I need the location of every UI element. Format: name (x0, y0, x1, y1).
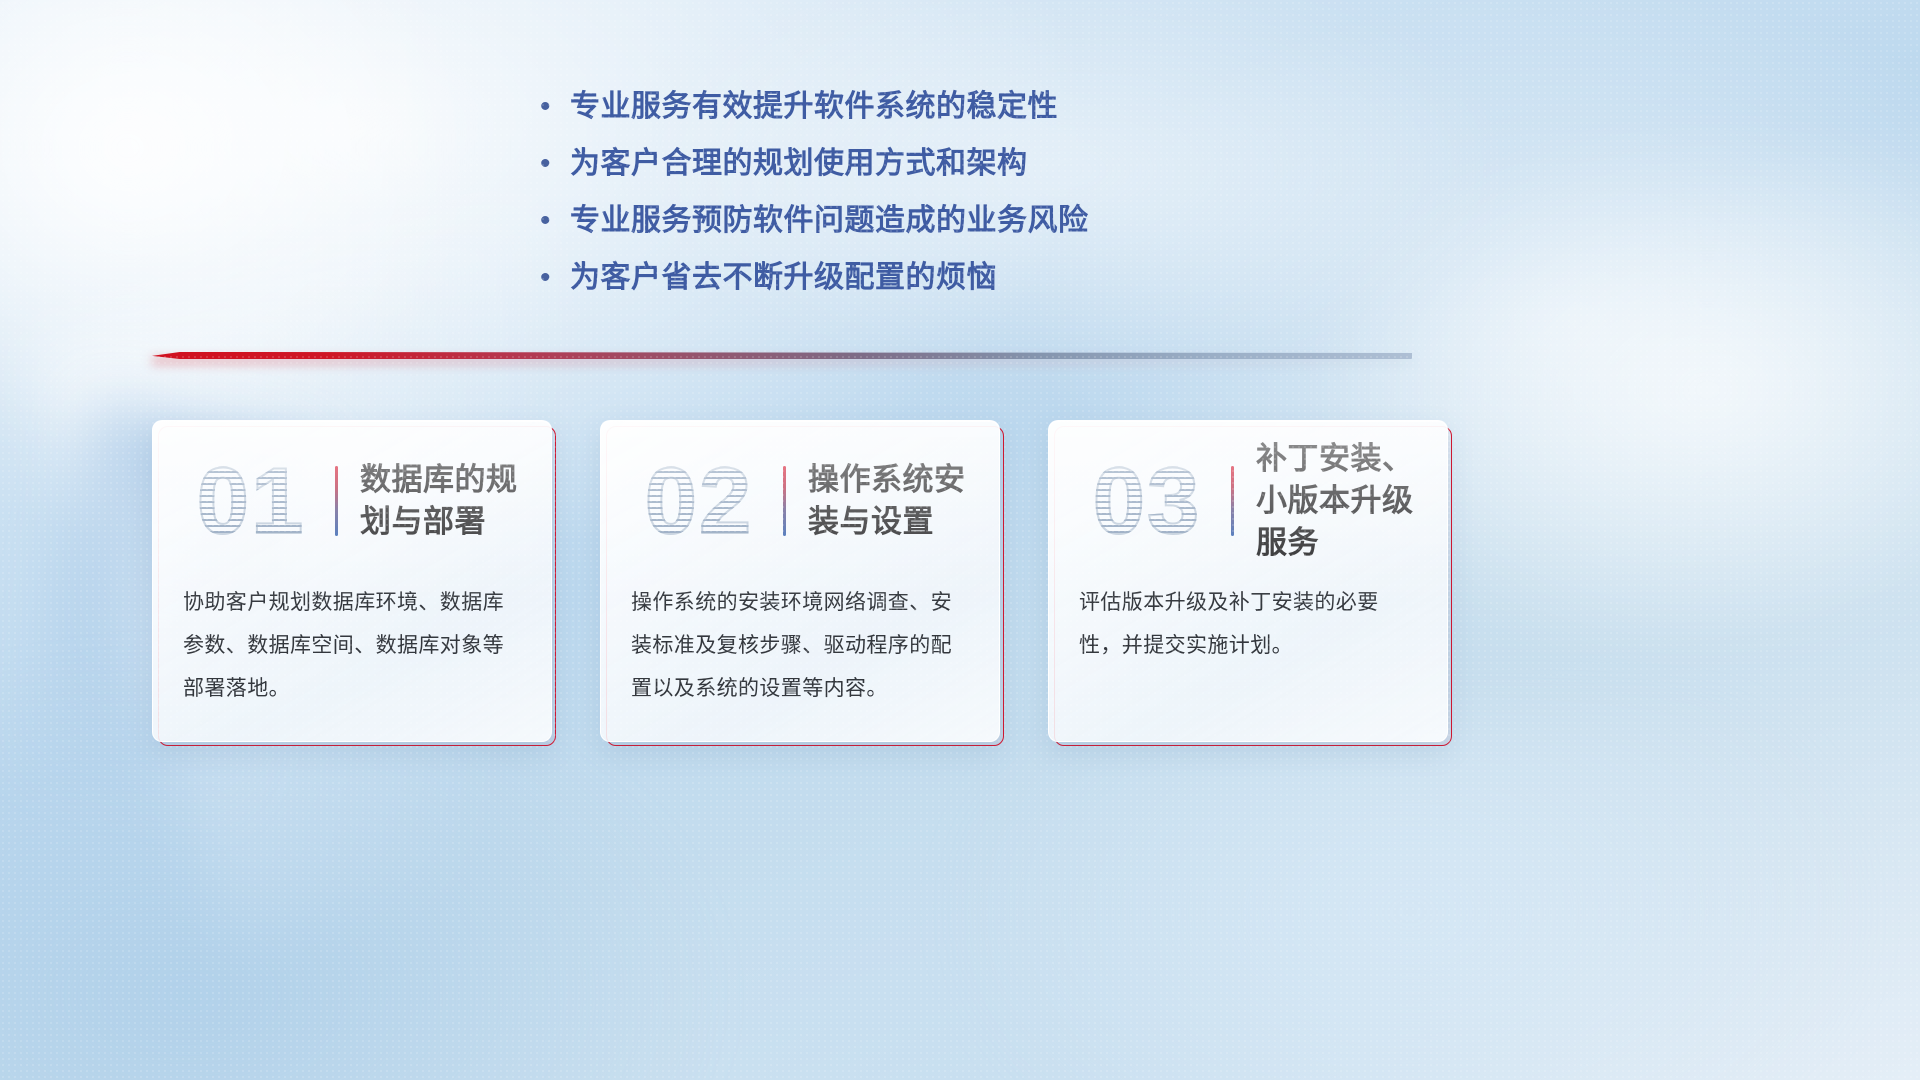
bullet-dot-icon: • (540, 202, 570, 240)
list-item: • 专业服务有效提升软件系统的稳定性 (540, 88, 1089, 126)
service-card[interactable]: 02 操作系统安装与设置 操作系统的安装环境网络调查、安装标准及复核步骤、驱动程… (600, 420, 1000, 742)
card-number-watermark: 01 (171, 441, 331, 561)
card-header: 01 数据库的规划与部署 (153, 441, 529, 561)
section-divider (152, 349, 1412, 363)
list-item: • 为客户省去不断升级配置的烦恼 (540, 259, 1089, 297)
card-title: 补丁安装、小版本升级服务 (1256, 438, 1425, 564)
card-number-watermark: 03 (1067, 441, 1227, 561)
card-title: 数据库的规划与部署 (360, 459, 529, 543)
bullet-dot-icon: • (540, 259, 570, 297)
card-surface: 02 操作系统安装与设置 操作系统的安装环境网络调查、安装标准及复核步骤、驱动程… (600, 420, 1000, 742)
card-description: 操作系统的安装环境网络调查、安装标准及复核步骤、驱动程序的配置以及系统的设置等内… (631, 581, 973, 710)
bullet-dot-icon: • (540, 145, 570, 183)
benefits-bullet-list: • 专业服务有效提升软件系统的稳定性 • 为客户合理的规划使用方式和架构 • 专… (540, 88, 1089, 297)
card-surface: 03 补丁安装、小版本升级服务 评估版本升级及补丁安装的必要性，并提交实施计划。 (1048, 420, 1448, 742)
light-streak-top-left (0, 0, 500, 460)
divider-bar (152, 352, 1412, 359)
bullet-text: 为客户合理的规划使用方式和架构 (570, 145, 1028, 183)
card-surface: 01 数据库的规划与部署 协助客户规划数据库环境、数据库参数、数据库空间、数据库… (152, 420, 552, 742)
card-number-text: 02 (619, 441, 779, 561)
bullet-text: 专业服务预防软件问题造成的业务风险 (570, 202, 1089, 240)
card-number-text: 01 (171, 441, 331, 561)
card-title-accent-bar (1231, 466, 1234, 536)
slide-canvas: • 专业服务有效提升软件系统的稳定性 • 为客户合理的规划使用方式和架构 • 专… (0, 0, 1920, 1080)
card-description: 评估版本升级及补丁安装的必要性，并提交实施计划。 (1079, 581, 1421, 667)
list-item: • 专业服务预防软件问题造成的业务风险 (540, 202, 1089, 240)
card-header: 02 操作系统安装与设置 (601, 441, 977, 561)
list-item: • 为客户合理的规划使用方式和架构 (540, 145, 1089, 183)
card-header: 03 补丁安装、小版本升级服务 (1049, 441, 1425, 561)
card-number-watermark: 02 (619, 441, 779, 561)
service-card-group: 01 数据库的规划与部署 协助客户规划数据库环境、数据库参数、数据库空间、数据库… (152, 420, 1448, 742)
card-number-text: 03 (1067, 441, 1227, 561)
bullet-dot-icon: • (540, 88, 570, 126)
service-card[interactable]: 01 数据库的规划与部署 协助客户规划数据库环境、数据库参数、数据库空间、数据库… (152, 420, 552, 742)
service-card[interactable]: 03 补丁安装、小版本升级服务 评估版本升级及补丁安装的必要性，并提交实施计划。 (1048, 420, 1448, 742)
bullet-text: 为客户省去不断升级配置的烦恼 (570, 259, 997, 297)
card-title-accent-bar (783, 466, 786, 536)
card-title: 操作系统安装与设置 (808, 459, 977, 543)
bullet-text: 专业服务有效提升软件系统的稳定性 (570, 88, 1058, 126)
card-description: 协助客户规划数据库环境、数据库参数、数据库空间、数据库对象等部署落地。 (183, 581, 525, 710)
card-title-accent-bar (335, 466, 338, 536)
light-streak-bottom-right (960, 720, 1860, 1080)
